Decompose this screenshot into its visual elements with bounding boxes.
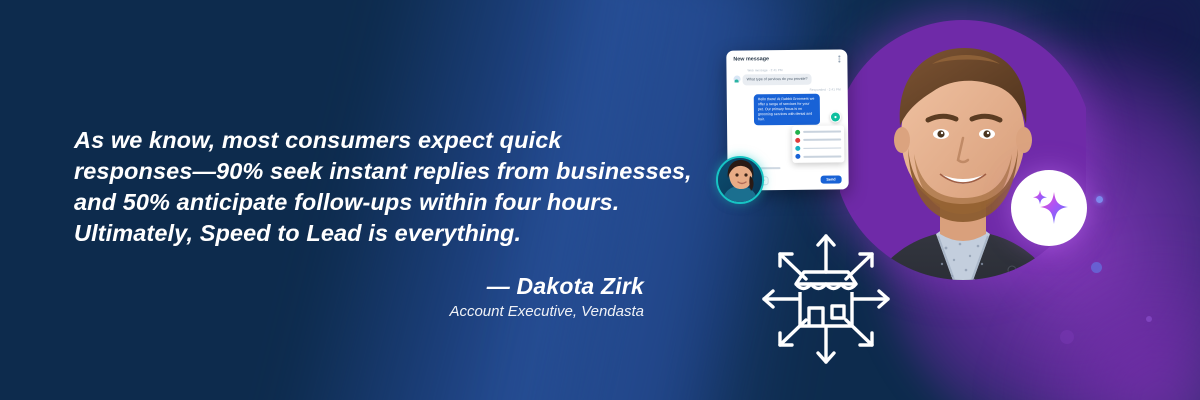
quote-line-4: Ultimately, Speed to Lead is everything. (74, 218, 674, 249)
storefront-multichannel-icon (752, 228, 900, 370)
chat-message-incoming: What type of services do you provide? (734, 73, 841, 85)
chat-card-header: New message (733, 55, 840, 63)
bokeh-dot (1146, 316, 1152, 322)
quote-line-1: As we know, most consumers expect quick (74, 125, 674, 156)
message-meta-incoming: Web message · 2:41 PM (733, 67, 840, 72)
testimonial-banner: As we know, most consumers expect quick … (0, 0, 1200, 400)
message-bubble-outgoing: Hello there! At Rabbit Groomers we offer… (754, 93, 820, 125)
red-circle-icon (795, 138, 800, 143)
message-bubble-incoming: What type of services do you provide? (743, 74, 812, 86)
quick-action-label (803, 131, 842, 133)
ai-sparkle-badge (1011, 170, 1087, 246)
agent-avatar (716, 156, 764, 204)
teal-circle-icon (795, 146, 800, 151)
kebab-menu-icon[interactable] (838, 55, 840, 62)
bokeh-dot (1096, 196, 1103, 203)
green-circle-icon (795, 129, 800, 134)
attribution-name: — Dakota Zirk (74, 272, 644, 300)
message-meta-outgoing: Responded · 2:41 PM (734, 87, 841, 92)
attribution-role: Account Executive, Vendasta (74, 301, 644, 322)
quick-action-label (803, 147, 842, 149)
bokeh-dot (1091, 262, 1102, 273)
quote-line-2: responses—90% seek instant replies from … (74, 156, 674, 187)
quick-action-label (803, 155, 842, 157)
attribution: — Dakota Zirk Account Executive, Vendast… (74, 272, 644, 322)
quick-action-label (803, 139, 842, 141)
quick-actions-menu[interactable] (792, 125, 844, 162)
send-button[interactable]: Send (820, 176, 841, 184)
quick-action-item[interactable] (792, 152, 844, 161)
ai-assist-badge-icon[interactable]: ● (830, 111, 841, 122)
chat-card-title: New message (733, 57, 769, 63)
blue-circle-icon (795, 154, 800, 159)
quote-block: As we know, most consumers expect quick … (74, 125, 674, 249)
contact-avatar-icon (734, 75, 741, 82)
quote-line-3: and 50% anticipate follow-ups within fou… (74, 187, 674, 218)
